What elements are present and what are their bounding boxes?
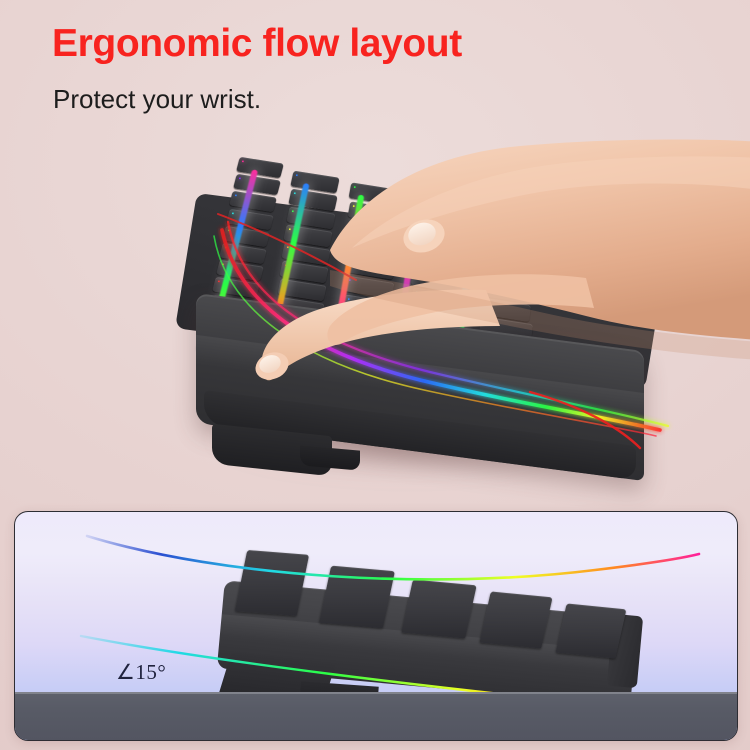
keycap-legend-glow: ▪ [220, 262, 223, 268]
keycap-legend-glow: ▪ [481, 299, 483, 305]
keyboard-logo-key[interactable]: ⌨ [500, 241, 570, 296]
product-feature-page: Ergonomic flow layout Protect your wrist… [0, 0, 750, 750]
keycap-legend-glow: ▪ [293, 191, 296, 197]
keycap-legend-glow: ▪ [231, 211, 234, 217]
keycap-legend-glow: ▪ [295, 173, 298, 179]
keycap-legend-glow: ▪ [479, 280, 481, 286]
keycap-legend-glow: ▪ [234, 194, 237, 200]
keycap-legend-glow: ▪ [478, 261, 480, 267]
keycap-legend-glow: ▪ [353, 185, 356, 191]
side-view-keycap [556, 603, 627, 658]
keycap-legend-glow: ▪ [483, 319, 485, 325]
keycap-legend-glow: ▪ [347, 296, 350, 302]
keycap-legend-glow: ▪ [413, 195, 416, 201]
keycap-legend-glow: ▪ [217, 280, 220, 286]
tilt-angle-annotation: ∠15° [116, 660, 166, 685]
desk-surface [15, 692, 737, 740]
brand-logo-icon: ⌨ [521, 256, 548, 279]
side-view-keycap [319, 566, 395, 629]
keycap-legend-glow: ▪ [241, 159, 244, 165]
desk-edge-highlight [15, 692, 737, 694]
keycap-legend-glow: ▪ [415, 271, 418, 277]
keycap-legend-glow: ▪ [415, 290, 418, 296]
hero-product-photo: ▪▪▪▪▪▪▪▪▪▪▪▪▪▪▪▪▪▪▪▪▪▪▪▪▪▪▪▪▪▪▪▪▪▪▪▪▪▪▪▪… [0, 130, 750, 510]
keycap-legend-glow: ▪ [352, 203, 355, 209]
page-title: Ergonomic flow layout [52, 24, 462, 65]
keycap-legend-glow: ▪ [291, 209, 294, 215]
keycap-legend-glow: ▪ [227, 228, 230, 234]
side-view-keycap [479, 591, 552, 648]
keycap-legend-glow: ▪ [288, 227, 291, 233]
page-subtitle: Protect your wrist. [53, 84, 261, 115]
side-view-keycap [235, 550, 309, 616]
keycap-legend-glow: ▪ [415, 309, 418, 315]
keycap-legend-glow: ▪ [224, 245, 227, 251]
keycap-legend-glow: ▪ [473, 202, 475, 208]
side-view-keycap [401, 579, 476, 638]
side-view-detail-panel [14, 511, 738, 741]
keycap-legend-glow: ▪ [237, 176, 240, 182]
keycap-legend-glow: ▪ [414, 252, 417, 258]
keycap-legend-glow: ▪ [476, 241, 478, 247]
